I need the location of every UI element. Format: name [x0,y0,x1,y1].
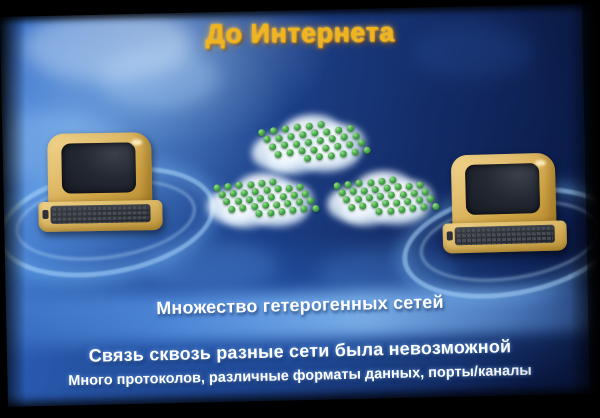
monitor-screen [465,163,540,215]
screen-glare [535,160,546,166]
vintage-computer-terminal-left [35,130,165,240]
network-node [398,206,405,213]
network-node [293,140,300,147]
network-node [228,205,235,212]
network-node [278,208,285,215]
network-node [366,194,373,201]
network-node [399,191,406,198]
network-node [296,199,303,206]
network-node [270,127,277,134]
network-cloud-bottom-right [319,166,437,228]
network-node [235,197,242,204]
network-node [378,178,385,185]
network-node [267,209,274,216]
network-node [247,181,254,188]
network-node [355,195,362,202]
network-node [318,120,325,127]
network-node [258,128,265,135]
network-node [416,197,423,204]
network-node [383,185,390,192]
keyboard [455,225,555,246]
network-node [263,187,270,194]
network-node [287,133,294,140]
monitor-shell [47,132,152,210]
network-node [338,189,345,196]
cloud-wisp [99,48,220,110]
network-node [286,184,293,191]
terminal-knob [42,210,48,219]
network-node [310,146,317,153]
network-node [241,189,248,196]
network-node [432,203,439,210]
network-node [328,152,335,159]
network-node [273,201,280,208]
network-node [387,207,394,214]
screen-glare [131,139,142,145]
projected-slide-photo: До Интернета Множество гетерогенных сете… [0,0,600,418]
network-node [371,201,378,208]
network-node [213,184,220,191]
network-node [361,187,368,194]
network-cloud-bottom-left [199,168,317,230]
network-node [406,182,413,189]
terminal-knob [447,231,453,240]
network-node [279,193,286,200]
network-node [291,192,298,199]
network-node [367,179,374,186]
slide-title: До Интернета [0,15,600,52]
network-node [348,203,355,210]
network-node [411,190,418,197]
network-node [275,134,282,141]
network-node [246,196,253,203]
keyboard [50,204,150,224]
network-node [333,182,340,189]
network-node [218,191,225,198]
network-node [258,180,265,187]
network-node [251,203,258,210]
monitor-screen [61,142,136,193]
network-node [312,205,319,212]
network-node [323,128,330,135]
vintage-computer-terminal-right [439,150,570,261]
network-node [393,199,400,206]
network-node [306,122,313,129]
monitor-shell [451,153,557,232]
